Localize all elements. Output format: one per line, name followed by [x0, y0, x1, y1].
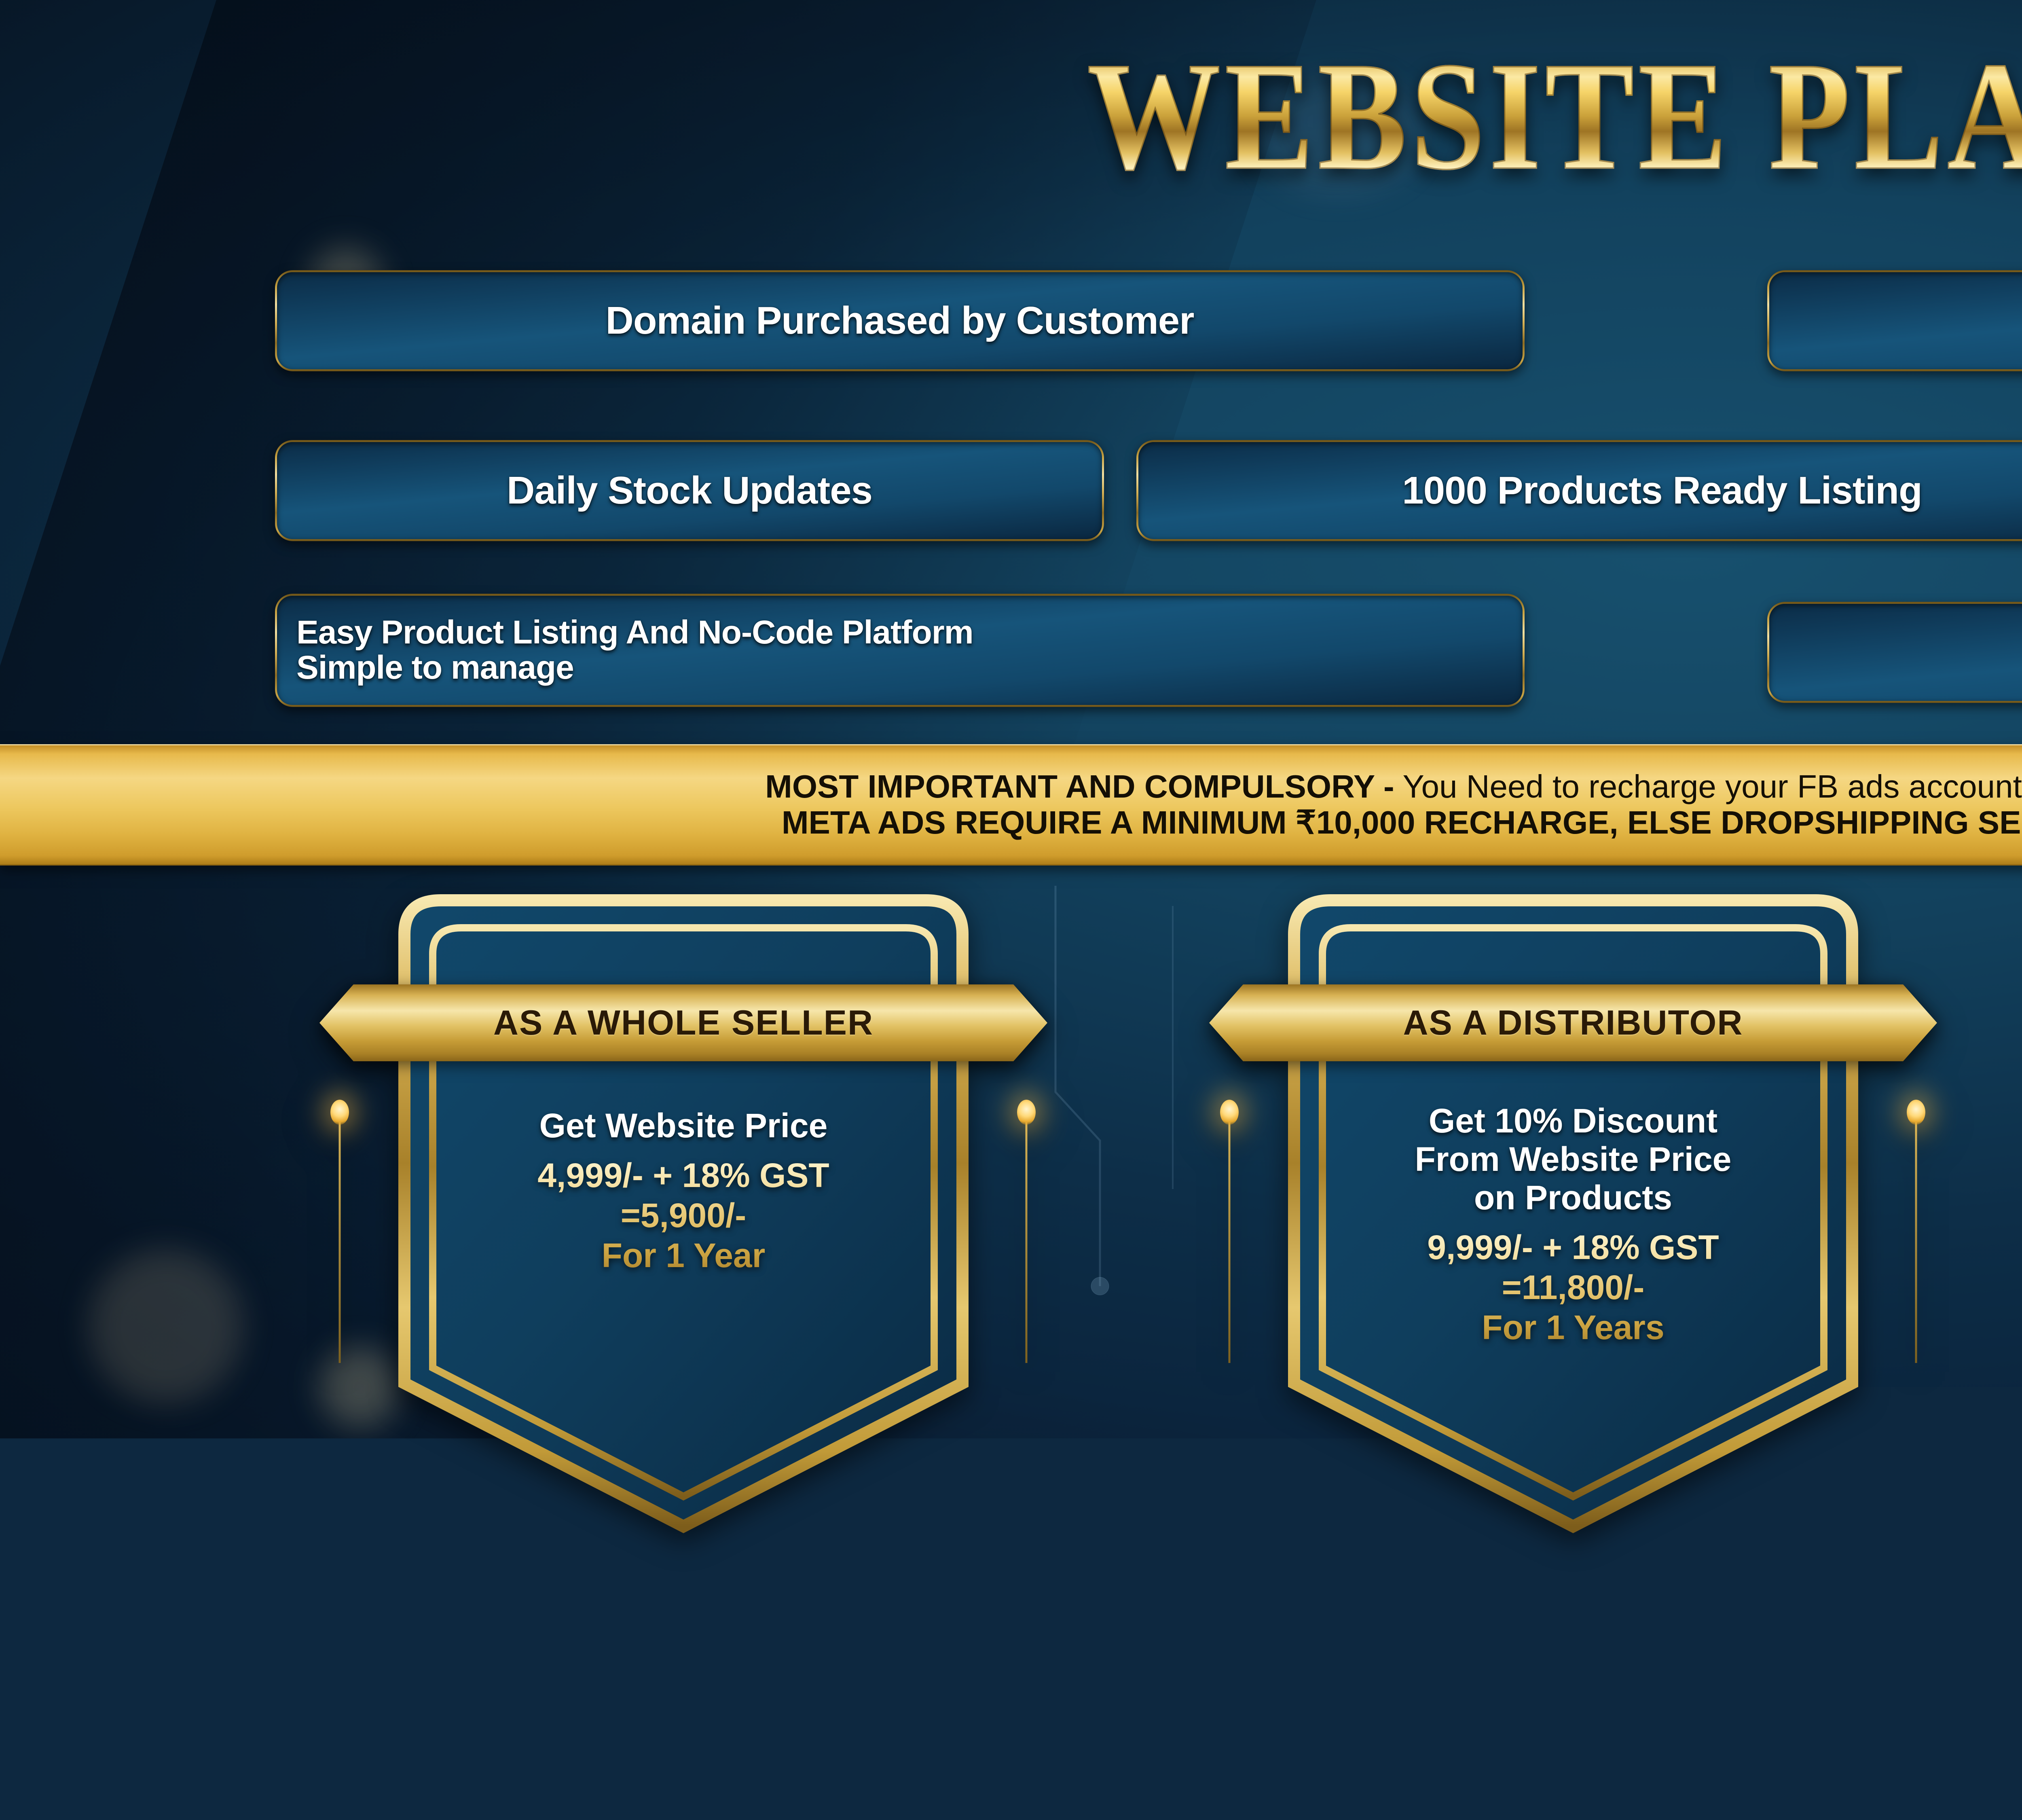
- feature-label: Domain Purchased by Customer: [605, 300, 1194, 341]
- feature-pill-daily-stock[interactable]: Daily Stock Updates: [275, 440, 1104, 541]
- plan-ribbon-label: AS A DISTRIBUTOR: [1403, 1003, 1743, 1043]
- banner-line-1-rest: You Need to recharge your FB ads account…: [1394, 768, 2022, 804]
- shipping-charges-label: Shipping charges Rs. 50/- per 500 gm +GS…: [956, 1724, 2022, 1763]
- plan-price: 4,999/- + 18% GST =5,900/- For 1 Year: [417, 1155, 950, 1276]
- plan-ribbon-label: AS A WHOLE SELLER: [493, 1003, 874, 1043]
- feature-pill-1000-products[interactable]: 1000 Products Ready Listing: [1136, 440, 2022, 541]
- banner-line-2: META ADS REQUIRE A MINIMUM ₹10,000 RECHA…: [782, 804, 2022, 841]
- plan-ribbon: AS A DISTRIBUTOR: [1209, 984, 1937, 1061]
- plan-content: Get Website Price 4,999/- + 18% GST =5,9…: [417, 1107, 950, 1276]
- plan-heading: Get 10% Discount From Website Price on P…: [1306, 1102, 1840, 1217]
- feature-pill-easy-listing[interactable]: Easy Product Listing And No-Code Platfor…: [275, 594, 1525, 707]
- plan-heading: Get Website Price: [417, 1107, 950, 1145]
- feature-pill-order-panel[interactable]: Order Management Panel: [1767, 270, 2022, 371]
- plan-ribbon: AS A WHOLE SELLER: [319, 984, 1047, 1061]
- feature-pill-google-ads[interactable]: Google Ads & Meta Pixel Integration: [1767, 602, 2022, 703]
- feature-label: Daily Stock Updates: [507, 470, 872, 511]
- plan-content: Get 10% Discount From Website Price on P…: [1306, 1102, 1840, 1348]
- banner-line-1-bold: MOST IMPORTANT AND COMPULSORY -: [765, 768, 1394, 804]
- banner-line-1: MOST IMPORTANT AND COMPULSORY - You Need…: [765, 769, 2022, 804]
- compulsory-notice-banner: MOST IMPORTANT AND COMPULSORY - You Need…: [0, 744, 2022, 866]
- feature-pill-domain[interactable]: Domain Purchased by Customer: [275, 270, 1525, 371]
- feature-label: 1000 Products Ready Listing: [1402, 470, 1922, 511]
- plan-card-distributor[interactable]: AS A DISTRIBUTOR Get 10% Discount From W…: [1197, 886, 1949, 1541]
- page-title: WEBSITE PLAN: [1087, 40, 2022, 192]
- plan-card-whole-seller[interactable]: AS A WHOLE SELLER Get Website Price 4,99…: [307, 886, 1060, 1541]
- shipping-charges-bar: Shipping charges Rs. 50/- per 500 gm +GS…: [239, 1695, 2022, 1792]
- plan-price: 9,999/- + 18% GST =11,800/- For 1 Years: [1306, 1227, 1840, 1348]
- feature-label: Easy Product Listing And No-Code Platfor…: [296, 615, 973, 686]
- page-title-container: WEBSITE PLAN: [0, 40, 2022, 171]
